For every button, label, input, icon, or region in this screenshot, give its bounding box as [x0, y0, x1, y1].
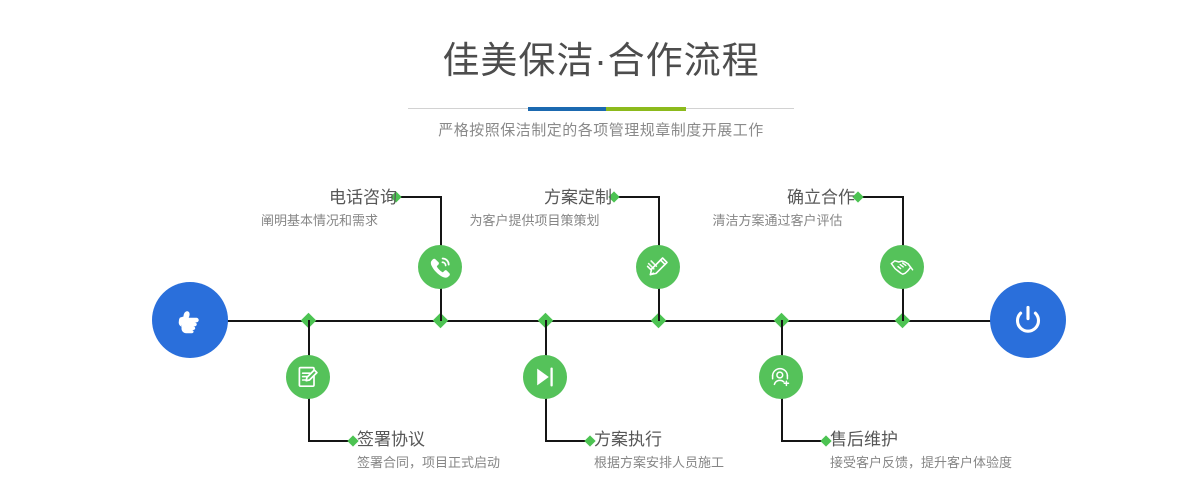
- power-icon: [1008, 300, 1048, 340]
- phone-call-icon: [427, 254, 453, 280]
- step-icon-circle-6[interactable]: [759, 355, 803, 399]
- step-desc-4: 根据方案安排人员施工: [594, 452, 724, 474]
- step-title-4: 方案执行: [594, 428, 724, 452]
- timeline-start-marker: [152, 282, 228, 358]
- step-label-5: 确立合作 清洁方案通过客户评估: [700, 186, 855, 232]
- connector-horizontal-step-1: [396, 196, 441, 198]
- step-title-6: 售后维护: [830, 428, 1012, 452]
- handshake-icon: [889, 254, 915, 280]
- step-icon-circle-1[interactable]: [418, 245, 462, 289]
- step-label-3: 方案定制 为客户提供项目策策划: [457, 186, 612, 232]
- step-icon-circle-4[interactable]: [523, 355, 567, 399]
- step-icon-circle-5[interactable]: [880, 245, 924, 289]
- step-desc-6: 接受客户反馈，提升客户体验度: [830, 452, 1012, 474]
- connector-horizontal-step-3: [614, 196, 659, 198]
- play-execute-icon: [532, 364, 558, 390]
- step-icon-circle-2[interactable]: [286, 355, 330, 399]
- connector-horizontal-step-5: [858, 196, 903, 198]
- timeline-end-marker: [990, 282, 1066, 358]
- step-label-4: 方案执行 根据方案安排人员施工: [594, 428, 724, 474]
- step-title-2: 签署协议: [357, 428, 500, 452]
- pointing-hand-icon: [170, 300, 210, 340]
- step-title-3: 方案定制: [457, 186, 612, 210]
- step-label-2: 签署协议 签署合同，项目正式启动: [357, 428, 500, 474]
- step-desc-2: 签署合同，项目正式启动: [357, 452, 500, 474]
- customer-service-icon: [768, 364, 794, 390]
- step-label-1: 电话咨询 阐明基本情况和需求: [242, 186, 397, 232]
- step-desc-3: 为客户提供项目策策划: [457, 210, 612, 232]
- pencil-plan-icon: [645, 254, 671, 280]
- step-icon-circle-3[interactable]: [636, 245, 680, 289]
- step-desc-5: 清洁方案通过客户评估: [700, 210, 855, 232]
- step-desc-1: 阐明基本情况和需求: [242, 210, 397, 232]
- step-title-1: 电话咨询: [242, 186, 397, 210]
- step-title-5: 确立合作: [700, 186, 855, 210]
- process-timeline: 电话咨询 阐明基本情况和需求 签署协议 签署合同，项目正式启动: [0, 0, 1202, 502]
- document-edit-icon: [295, 364, 321, 390]
- step-label-6: 售后维护 接受客户反馈，提升客户体验度: [830, 428, 1012, 474]
